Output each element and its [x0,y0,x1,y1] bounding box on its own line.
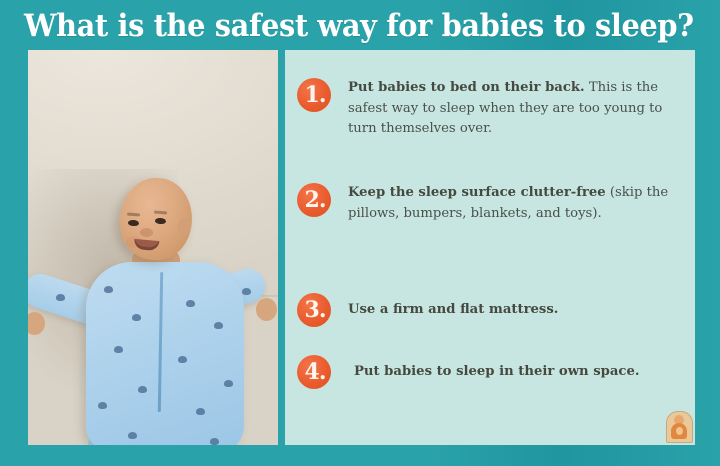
sleeper-motif [210,438,219,445]
tips-panel: 1. Put babies to bed on their back. This… [285,50,695,445]
baby-nose [140,228,153,237]
sleeper-motif [132,314,141,321]
baby-photo [28,50,278,445]
sleeper-motif [104,286,113,293]
tip-lead-4: Put babies to sleep in their own space. [354,364,639,379]
baby-right-eye [155,218,166,225]
tip-number-4: 4. [305,359,326,385]
tip-text-1: Put babies to bed on their back. This is… [348,78,687,140]
tip-number-2: 2. [305,187,326,213]
tip-text-4: Put babies to sleep in their own space. [354,355,687,383]
baby-right-hand [256,298,277,321]
tip-item-4: 4. Put babies to sleep in their own spac… [297,355,687,383]
tip-number-badge-3: 3. [297,293,331,327]
tip-lead-1: Put babies to bed on their back. [348,80,585,95]
sleeper-motif [56,294,65,301]
baby-figure [28,50,278,445]
tip-text-3: Use a firm and flat mattress. [348,293,687,321]
tip-item-3: 3. Use a firm and flat mattress. [297,293,687,321]
sleeper-motif [98,402,107,409]
tip-item-2: 2. Keep the sleep surface clutter-free (… [297,183,687,224]
sleeper-motif [138,386,147,393]
sleeper-motif [242,288,251,295]
tip-number-1: 1. [305,82,326,108]
page-title: What is the safest way for babies to sle… [24,5,649,49]
tip-number-badge-1: 1. [297,78,331,112]
sleeper-motif [196,408,205,415]
logo-child-shape [676,427,683,435]
tip-item-1: 1. Put babies to bed on their back. This… [297,78,687,140]
tip-lead-2: Keep the sleep surface clutter-free [348,185,606,200]
tip-text-2: Keep the sleep surface clutter-free (ski… [348,183,687,224]
sleeper-motif [178,356,187,363]
baby-left-hand [28,312,45,335]
baby-left-eye [128,220,139,227]
infographic-poster: What is the safest way for babies to sle… [0,0,720,466]
tip-lead-3: Use a firm and flat mattress. [348,302,558,317]
sleeper-motif [214,322,223,329]
sleeper-motif [128,432,137,439]
tip-number-badge-4: 4. [297,355,331,389]
sleeper-motif [224,380,233,387]
mother-and-child-logo-icon [666,411,693,443]
tip-number-3: 3. [305,297,326,323]
sleeper-motif [114,346,123,353]
tip-number-badge-2: 2. [297,183,331,217]
sleeper-motif [186,300,195,307]
